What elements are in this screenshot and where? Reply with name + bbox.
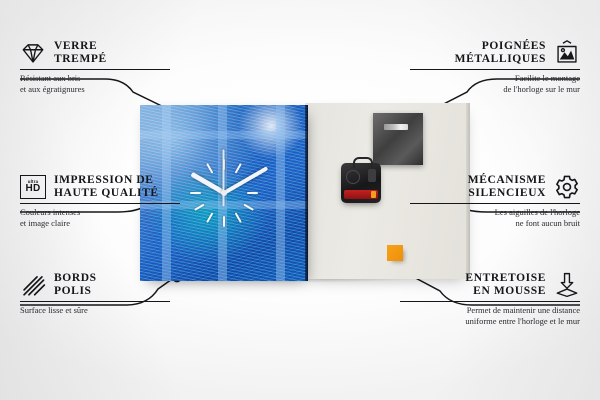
callout-subtitle: Permet de maintenir une distance uniform…	[400, 305, 580, 326]
callout-mecanisme-silencieux: MÉCANISME SILENCIEUX Les aiguilles de l'…	[410, 174, 580, 228]
polished-edges-icon	[20, 272, 46, 298]
callout-title: VERRE TREMPÉ	[54, 40, 107, 66]
callout-poignees-metalliques: POIGNÉES MÉTALLIQUES Facilite le montage…	[410, 40, 580, 94]
callout-header: BORDS POLIS	[20, 272, 170, 298]
callout-title: POIGNÉES MÉTALLIQUES	[455, 40, 546, 66]
callout-rule	[20, 301, 170, 302]
ultra-hd-icon: ultra HD	[20, 175, 46, 199]
mechanism-knob	[368, 169, 376, 182]
mechanism-dial	[346, 170, 360, 184]
callout-header: VERRE TREMPÉ	[20, 40, 170, 66]
gear-icon	[554, 174, 580, 200]
foam-spacer	[387, 245, 403, 261]
callout-entretoise-en-mousse: ENTRETOISE EN MOUSSE Permet de maintenir…	[400, 272, 580, 326]
callout-rule	[20, 203, 180, 204]
callout-bords-polis: BORDS POLIS Surface lisse et sûre	[20, 272, 170, 316]
mechanism-hook	[353, 157, 373, 168]
callout-title: IMPRESSION DE HAUTE QUALITÉ	[54, 174, 159, 200]
glass-edge	[305, 105, 308, 281]
callout-title: ENTRETOISE EN MOUSSE	[465, 272, 546, 298]
diamond-icon	[20, 40, 46, 66]
callout-header: ENTRETOISE EN MOUSSE	[400, 272, 580, 298]
callout-title: BORDS POLIS	[54, 272, 97, 298]
callout-subtitle: Couleurs intenses et image claire	[20, 207, 180, 228]
callout-impression-haute-qualite: ultra HD IMPRESSION DE HAUTE QUALITÉ Cou…	[20, 174, 180, 228]
callout-verre-trempe: VERRE TREMPÉ Résistant aux bris et aux é…	[20, 40, 170, 94]
callout-header: MÉCANISME SILENCIEUX	[410, 174, 580, 200]
silent-clock-mechanism	[341, 163, 381, 203]
callout-subtitle: Résistant aux bris et aux égratignures	[20, 73, 170, 94]
callout-rule	[410, 69, 580, 70]
hanger-slot	[384, 124, 408, 130]
callout-rule	[400, 301, 580, 302]
callout-rule	[410, 203, 580, 204]
battery	[344, 190, 378, 199]
infographic-canvas: VERRE TREMPÉ Résistant aux bris et aux é…	[0, 0, 600, 400]
callout-rule	[20, 69, 170, 70]
callout-header: POIGNÉES MÉTALLIQUES	[410, 40, 580, 66]
callout-subtitle: Surface lisse et sûre	[20, 305, 170, 316]
press-down-pad-icon	[554, 272, 580, 298]
callout-subtitle: Les aiguilles de l'horloge ne font aucun…	[410, 207, 580, 228]
hands-center-cap	[221, 190, 227, 196]
callout-title: MÉCANISME SILENCIEUX	[468, 174, 546, 200]
picture-hanger-icon	[554, 40, 580, 66]
callout-subtitle: Facilite le montage de l'horloge sur le …	[410, 73, 580, 94]
metal-hanger-plate	[373, 113, 423, 165]
callout-header: ultra HD IMPRESSION DE HAUTE QUALITÉ	[20, 174, 180, 200]
ultra-hd-large-text: HD	[25, 184, 40, 194]
